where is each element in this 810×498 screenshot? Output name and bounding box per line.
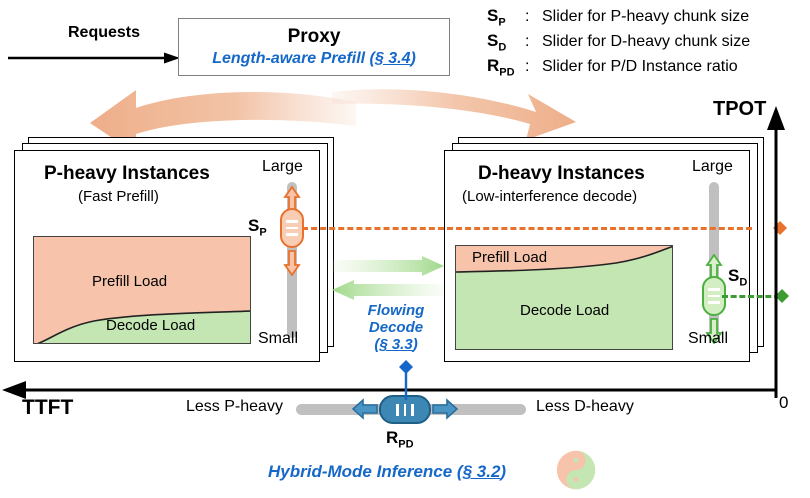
hybrid-text: Hybrid-Mode Inference (: [268, 462, 463, 481]
legend-text-sp: Slider for P-heavy chunk size: [542, 8, 749, 26]
tpot-axis: [764, 106, 788, 400]
d-panel-load-chart: Prefill Load Decode Load: [455, 245, 673, 350]
hybrid-close: ): [500, 462, 506, 481]
p-panel-load-chart: Prefill Load Decode Load: [33, 236, 251, 344]
rpd-left-arrow-icon[interactable]: [352, 398, 378, 420]
hybrid-section-ref[interactable]: § 3.2: [463, 462, 501, 481]
p-slider-label: SP: [248, 216, 267, 238]
legend-symbol-sd: SD: [487, 31, 525, 53]
flowing-ref-close: ): [413, 336, 418, 353]
proxy-subtitle: Length-aware Prefill (§ 3.4): [212, 49, 416, 69]
d-slider-top-label: Large: [692, 158, 733, 176]
p-panel-subtitle: (Fast Prefill): [78, 188, 159, 205]
p-slider-handle[interactable]: [280, 208, 304, 248]
p-slider-bottom-label: Small: [258, 330, 298, 348]
d-panel-title: D-heavy Instances: [478, 163, 645, 185]
legend-colon: :: [525, 8, 542, 26]
legend-text-sd: Slider for D-heavy chunk size: [542, 33, 750, 51]
p-slider-top-label: Large: [262, 158, 303, 176]
flowing-line2: Decode: [369, 319, 423, 336]
requests-label: Requests: [68, 24, 140, 42]
ttft-axis-label: TTFT: [22, 396, 73, 420]
less-d-heavy-label: Less D-heavy: [536, 398, 634, 416]
legend-row-sp: SP : Slider for P-heavy chunk size: [487, 6, 807, 31]
flowing-decode-label: Flowing Decode (§ 3.3): [354, 302, 438, 353]
legend-text-rpd: Slider for P/D Instance ratio: [542, 58, 738, 76]
flowing-decode-arrows: [330, 256, 446, 302]
proxy-title: Proxy: [288, 26, 341, 48]
tpot-axis-label: TPOT: [713, 98, 766, 121]
rpd-slider-label: RPD: [386, 428, 414, 450]
proxy-section-ref[interactable]: § 3.4: [375, 50, 411, 67]
p-chart-prefill-label: Prefill Load: [92, 273, 167, 290]
legend: SP : Slider for P-heavy chunk size SD : …: [487, 6, 807, 81]
hybrid-mode-inference-caption: Hybrid-Mode Inference (§ 3.2): [268, 462, 506, 482]
proxy-subtitle-close: ): [410, 50, 415, 67]
sp-tpot-connector: [302, 227, 752, 230]
proxy-subtitle-text: Length-aware Prefill (: [212, 50, 375, 67]
d-chart-prefill-label: Prefill Load: [472, 249, 547, 266]
legend-row-sd: SD : Slider for D-heavy chunk size: [487, 31, 807, 56]
proxy-box[interactable]: Proxy Length-aware Prefill (§ 3.4): [178, 18, 450, 76]
d-slider-bottom-label: Small: [688, 330, 728, 348]
flowing-section-ref[interactable]: § 3.3: [379, 336, 412, 353]
legend-symbol-rpd: RPD: [487, 56, 525, 78]
p-chart-decode-label: Decode Load: [106, 317, 195, 334]
less-p-heavy-label: Less P-heavy: [186, 398, 283, 416]
flowing-line1: Flowing: [368, 302, 425, 319]
legend-colon: :: [525, 33, 542, 51]
legend-symbol-sp: SP: [487, 6, 525, 28]
rpd-right-arrow-icon[interactable]: [432, 398, 458, 420]
dispatch-arrow-right: [330, 78, 630, 140]
origin-label: 0: [779, 393, 788, 413]
p-panel-title: P-heavy Instances: [44, 163, 210, 185]
d-panel-subtitle: (Low-interference decode): [462, 188, 637, 205]
d-chart-decode-label: Decode Load: [520, 302, 609, 319]
rpd-axis-connector: [396, 360, 416, 400]
yin-yang-logo-icon: [556, 450, 596, 490]
requests-arrow: [8, 52, 180, 64]
legend-colon: :: [525, 58, 542, 76]
p-slider-down-arrow-icon[interactable]: [283, 250, 301, 276]
d-slider-label: SD: [728, 266, 747, 288]
